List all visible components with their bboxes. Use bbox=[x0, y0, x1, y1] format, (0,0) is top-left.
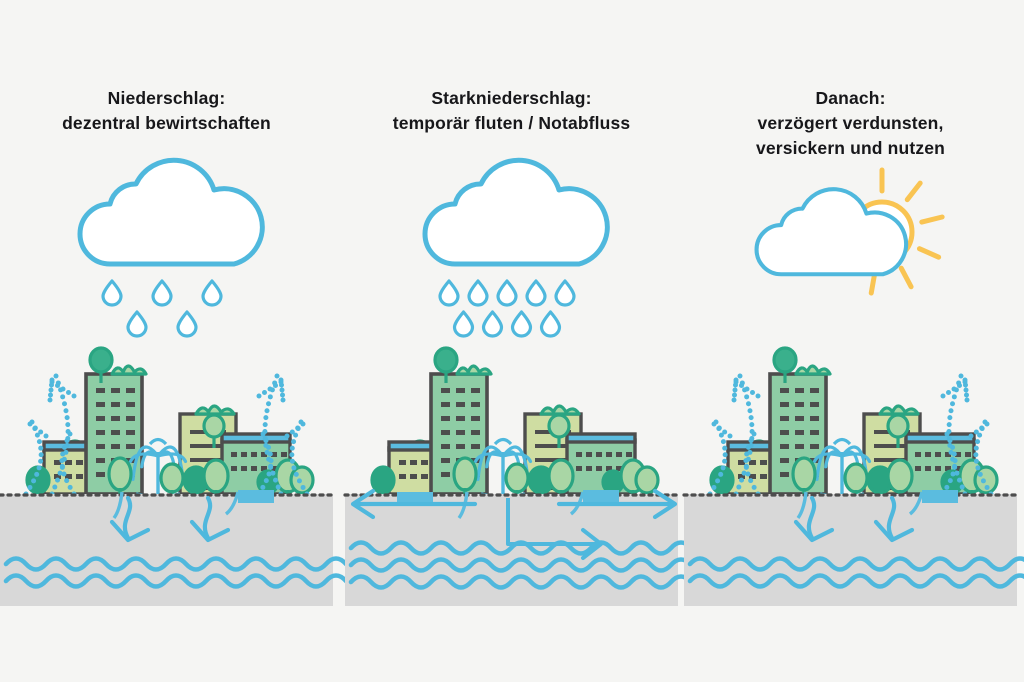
green-roof bbox=[796, 366, 830, 374]
window bbox=[780, 444, 789, 449]
panel-caption: Starkniederschlag:temporär fluten / Nota… bbox=[345, 86, 678, 136]
window bbox=[810, 416, 819, 421]
evaporation-dot bbox=[263, 422, 268, 427]
window bbox=[441, 430, 450, 435]
retention-basin bbox=[583, 490, 619, 503]
cloud-shape bbox=[80, 160, 262, 264]
caption-line: versickern und nutzen bbox=[684, 136, 1017, 161]
tree-crown bbox=[845, 464, 867, 492]
evaporation-dot bbox=[739, 383, 744, 388]
panel-heavy-precipitation: Starkniederschlag:temporär fluten / Nota… bbox=[345, 0, 678, 682]
evaporation-dot bbox=[49, 383, 54, 388]
tree-crown bbox=[204, 460, 228, 492]
raindrop-icon bbox=[440, 281, 458, 305]
city-skyline bbox=[372, 348, 658, 505]
evaporation-dot bbox=[38, 446, 43, 451]
evaporation-dot bbox=[290, 459, 295, 464]
window bbox=[780, 430, 789, 435]
evaporation-dot bbox=[985, 422, 990, 427]
window bbox=[76, 460, 83, 465]
evaporation-dot bbox=[721, 465, 726, 470]
city-ground-area bbox=[345, 352, 678, 612]
fountain-top-jet bbox=[150, 440, 166, 445]
sun-ray bbox=[907, 183, 920, 200]
evaporation-dot bbox=[44, 434, 49, 439]
window bbox=[251, 466, 257, 471]
building-blue-roof bbox=[906, 434, 974, 442]
window bbox=[111, 402, 120, 407]
evaporation-dot bbox=[952, 394, 957, 399]
evaporation-dot bbox=[746, 401, 751, 406]
window bbox=[795, 444, 804, 449]
evaporation-dot bbox=[952, 465, 957, 470]
window bbox=[925, 452, 931, 457]
evaporation-dot bbox=[273, 478, 278, 483]
evaporation-dot bbox=[27, 485, 32, 490]
evaporation-dot bbox=[746, 445, 751, 450]
evaporation-dot bbox=[959, 374, 964, 379]
evaporation-dot bbox=[68, 432, 73, 437]
evaporation-dot bbox=[712, 422, 717, 427]
window bbox=[96, 430, 105, 435]
evaporation-dot bbox=[289, 452, 294, 457]
window bbox=[616, 452, 622, 457]
tree-crown bbox=[506, 464, 528, 492]
window bbox=[111, 388, 120, 393]
evaporation-dot bbox=[68, 485, 73, 490]
evaporation-dot bbox=[964, 393, 969, 398]
evaporation-dot bbox=[273, 383, 278, 388]
panel-afterwards: Danach:verzögert verdunsten,versickern u… bbox=[684, 0, 1017, 682]
weather-area bbox=[0, 170, 333, 350]
evaporation-dot bbox=[974, 430, 979, 435]
window bbox=[795, 388, 804, 393]
retention-basin bbox=[922, 490, 958, 503]
evaporation-dot bbox=[715, 478, 720, 483]
evaporation-dot bbox=[50, 378, 55, 383]
evaporation-dot bbox=[55, 478, 60, 483]
window bbox=[471, 444, 480, 449]
evaporation-dot bbox=[953, 458, 958, 463]
tree-crown bbox=[888, 415, 908, 437]
evaporation-dot bbox=[38, 459, 43, 464]
evaporation-dot bbox=[964, 388, 969, 393]
evaporation-dot bbox=[61, 387, 66, 392]
caption-line: temporär fluten / Notabfluss bbox=[345, 111, 678, 136]
window bbox=[471, 430, 480, 435]
ground-cross-section bbox=[684, 352, 1017, 612]
window bbox=[576, 466, 582, 471]
window bbox=[596, 466, 602, 471]
window bbox=[456, 430, 465, 435]
tree-crown bbox=[435, 348, 457, 372]
window bbox=[76, 474, 83, 479]
window bbox=[795, 416, 804, 421]
evaporation-dot bbox=[750, 390, 755, 395]
evaporation-dot bbox=[723, 452, 728, 457]
infographic-stage: Niederschlag:dezentral bewirtschaftenSta… bbox=[0, 0, 1024, 682]
evaporation-dot bbox=[960, 485, 965, 490]
evaporation-dot bbox=[732, 398, 737, 403]
fountain-top-jet bbox=[495, 440, 511, 445]
caption-line: verzögert verdunsten, bbox=[684, 111, 1017, 136]
window bbox=[421, 474, 428, 479]
evaporation-dot bbox=[261, 432, 266, 437]
evaporation-dot bbox=[268, 394, 273, 399]
evaporation-dot bbox=[945, 432, 950, 437]
evaporation-dot bbox=[48, 393, 53, 398]
caption-line: Danach: bbox=[684, 86, 1017, 111]
sun-ray bbox=[922, 217, 942, 222]
raindrop-icon bbox=[178, 312, 196, 336]
window bbox=[399, 460, 406, 465]
window bbox=[586, 452, 592, 457]
window bbox=[780, 402, 789, 407]
window bbox=[441, 444, 450, 449]
window bbox=[780, 388, 789, 393]
evaporation-dot bbox=[981, 478, 986, 483]
evaporation-dot bbox=[59, 458, 64, 463]
window bbox=[126, 388, 135, 393]
ground-cross-section bbox=[345, 352, 678, 612]
window bbox=[760, 474, 767, 479]
evaporation-dot bbox=[263, 415, 268, 420]
evaporation-dot bbox=[269, 458, 274, 463]
raindrop-icon bbox=[542, 312, 560, 336]
tree-crown bbox=[454, 458, 476, 490]
window bbox=[915, 466, 921, 471]
window bbox=[456, 416, 465, 421]
evaporation-dot bbox=[64, 478, 69, 483]
evaporation-dot bbox=[744, 394, 749, 399]
evaporation-dot bbox=[294, 472, 299, 477]
green-roof bbox=[541, 406, 579, 414]
window bbox=[456, 402, 465, 407]
raindrop-icon bbox=[513, 312, 531, 336]
evaporation-dot bbox=[722, 446, 727, 451]
building-blue-roof bbox=[222, 434, 290, 442]
cloud-shape bbox=[425, 160, 607, 264]
evaporation-dot bbox=[722, 459, 727, 464]
evaporation-dot bbox=[65, 422, 70, 427]
window bbox=[760, 460, 767, 465]
panel-caption: Danach:verzögert verdunsten,versickern u… bbox=[684, 86, 1017, 161]
evaporation-dot bbox=[33, 426, 38, 431]
evaporation-dot bbox=[733, 383, 738, 388]
evaporation-dot bbox=[950, 445, 955, 450]
evaporation-dot bbox=[722, 430, 727, 435]
evaporation-dot bbox=[736, 485, 741, 490]
evaporation-dot bbox=[52, 485, 57, 490]
tree-crown bbox=[109, 458, 131, 490]
evaporation-dot bbox=[744, 452, 749, 457]
window bbox=[596, 452, 602, 457]
evaporation-dot bbox=[265, 408, 270, 413]
evaporation-dot bbox=[952, 387, 957, 392]
window bbox=[810, 388, 819, 393]
green-roof bbox=[457, 366, 491, 374]
window bbox=[780, 416, 789, 421]
evaporation-dot bbox=[62, 401, 67, 406]
tree-crown bbox=[372, 467, 394, 493]
tree-crown bbox=[90, 348, 112, 372]
evaporation-dot bbox=[721, 439, 726, 444]
evaporation-dot bbox=[974, 459, 979, 464]
window bbox=[441, 388, 450, 393]
evaporation-dot bbox=[268, 387, 273, 392]
green-roof bbox=[196, 406, 234, 414]
building-blue-roof bbox=[567, 434, 635, 442]
evaporation-dot bbox=[63, 408, 68, 413]
window bbox=[96, 416, 105, 421]
window bbox=[126, 416, 135, 421]
window bbox=[399, 474, 406, 479]
evaporation-dot bbox=[963, 383, 968, 388]
evaporation-dot bbox=[260, 485, 265, 490]
evaporation-dot bbox=[72, 394, 77, 399]
evaporation-dot bbox=[973, 452, 978, 457]
evaporation-dot bbox=[48, 398, 53, 403]
window bbox=[421, 460, 428, 465]
sun-ray bbox=[901, 268, 911, 287]
evaporation-dot bbox=[749, 422, 754, 427]
evaporation-dot bbox=[66, 390, 71, 395]
window bbox=[251, 452, 257, 457]
tree-crown bbox=[161, 464, 183, 492]
evaporation-dot bbox=[257, 394, 262, 399]
evaporation-dot bbox=[295, 426, 300, 431]
raindrop-icon bbox=[103, 281, 121, 305]
raindrop-icon bbox=[203, 281, 221, 305]
window bbox=[925, 466, 931, 471]
evaporation-dot bbox=[975, 465, 980, 470]
evaporation-dot bbox=[62, 472, 67, 477]
evaporation-dot bbox=[979, 426, 984, 431]
window bbox=[810, 444, 819, 449]
evaporation-dot bbox=[748, 478, 753, 483]
evaporation-dot bbox=[279, 378, 284, 383]
window bbox=[111, 416, 120, 421]
evaporation-dot bbox=[276, 485, 281, 490]
evaporation-dot bbox=[949, 408, 954, 413]
evaporation-dot bbox=[745, 387, 750, 392]
evaporation-dot bbox=[957, 478, 962, 483]
evaporation-dot bbox=[60, 452, 65, 457]
evaporation-dot bbox=[969, 434, 974, 439]
sun-ray bbox=[919, 249, 938, 258]
window bbox=[410, 474, 417, 479]
evaporation-dot bbox=[947, 422, 952, 427]
window bbox=[231, 466, 237, 471]
window bbox=[965, 452, 971, 457]
evaporation-dot bbox=[747, 408, 752, 413]
window bbox=[96, 388, 105, 393]
tree-crown bbox=[888, 460, 912, 492]
evaporation-dot bbox=[268, 465, 273, 470]
evaporation-dot bbox=[275, 374, 280, 379]
evaporation-dot bbox=[941, 394, 946, 399]
evaporation-dot bbox=[746, 472, 751, 477]
tree-crown bbox=[204, 415, 224, 437]
evaporation-dot bbox=[39, 452, 44, 457]
caption-line: Niederschlag: bbox=[0, 86, 333, 111]
evaporation-dot bbox=[297, 478, 302, 483]
window bbox=[810, 430, 819, 435]
city-ground-area bbox=[0, 352, 333, 612]
window bbox=[126, 402, 135, 407]
evaporation-dot bbox=[948, 478, 953, 483]
evaporation-dot bbox=[264, 478, 269, 483]
window bbox=[241, 452, 247, 457]
window bbox=[231, 452, 237, 457]
evaporation-dot bbox=[62, 445, 67, 450]
window bbox=[795, 402, 804, 407]
evaporation-dot bbox=[718, 472, 723, 477]
green-roof bbox=[112, 366, 146, 374]
city-skyline bbox=[711, 348, 997, 505]
evaporation-dot bbox=[279, 383, 284, 388]
evaporation-dot bbox=[950, 401, 955, 406]
evaporation-dot bbox=[54, 374, 59, 379]
evaporation-dot bbox=[978, 472, 983, 477]
window bbox=[915, 452, 921, 457]
evaporation-dot bbox=[734, 378, 739, 383]
evaporation-dot bbox=[65, 438, 70, 443]
evaporation-dot bbox=[944, 485, 949, 490]
city-skyline bbox=[27, 348, 313, 505]
window bbox=[935, 466, 941, 471]
evaporation-dot bbox=[732, 393, 737, 398]
evaporation-dot bbox=[285, 434, 290, 439]
window bbox=[471, 402, 480, 407]
window bbox=[126, 430, 135, 435]
window bbox=[441, 458, 450, 463]
tree-crown bbox=[793, 458, 815, 490]
window bbox=[935, 452, 941, 457]
raindrop-icon bbox=[556, 281, 574, 305]
raindrop-icon bbox=[484, 312, 502, 336]
evaporation-dot bbox=[60, 394, 65, 399]
evaporation-dot bbox=[739, 478, 744, 483]
evaporation-dot bbox=[290, 430, 295, 435]
evaporation-dot bbox=[266, 445, 271, 450]
evaporation-dot bbox=[263, 438, 268, 443]
evaporation-dot bbox=[49, 388, 54, 393]
window bbox=[780, 472, 789, 477]
raindrop-icon bbox=[455, 312, 473, 336]
window bbox=[96, 472, 105, 477]
evaporation-dot bbox=[34, 472, 39, 477]
window bbox=[410, 460, 417, 465]
raindrop-icon bbox=[498, 281, 516, 305]
evaporation-dot bbox=[950, 472, 955, 477]
raindrop-icon bbox=[128, 312, 146, 336]
caption-line: dezentral bewirtschaften bbox=[0, 111, 333, 136]
window bbox=[126, 444, 135, 449]
window bbox=[780, 458, 789, 463]
evaporation-dot bbox=[952, 452, 957, 457]
window bbox=[441, 472, 450, 477]
raindrop-icon bbox=[469, 281, 487, 305]
evaporation-dot bbox=[963, 378, 968, 383]
window bbox=[626, 452, 632, 457]
tree-crown bbox=[549, 460, 573, 492]
evaporation-dot bbox=[733, 388, 738, 393]
evaporation-dot bbox=[752, 485, 757, 490]
evaporation-dot bbox=[55, 383, 60, 388]
evaporation-dot bbox=[280, 393, 285, 398]
soil-block bbox=[0, 494, 333, 606]
evaporation-dot bbox=[985, 485, 990, 490]
evaporation-dot bbox=[957, 383, 962, 388]
retention-basin bbox=[238, 490, 274, 503]
window bbox=[111, 444, 120, 449]
window bbox=[441, 416, 450, 421]
window bbox=[471, 416, 480, 421]
window bbox=[281, 452, 287, 457]
window bbox=[586, 466, 592, 471]
evaporation-dot bbox=[37, 465, 42, 470]
window bbox=[456, 388, 465, 393]
evaporation-dot bbox=[37, 439, 42, 444]
evaporation-dot bbox=[281, 398, 286, 403]
window bbox=[795, 430, 804, 435]
raindrop-icon bbox=[153, 281, 171, 305]
tree-crown bbox=[549, 415, 569, 437]
evaporation-dot bbox=[946, 390, 951, 395]
evaporation-dot bbox=[717, 426, 722, 431]
evaporation-dot bbox=[738, 374, 743, 379]
evaporation-dot bbox=[965, 398, 970, 403]
sun-behind-cloud-icon bbox=[684, 170, 1017, 350]
evaporation-dot bbox=[743, 458, 748, 463]
evaporation-dot bbox=[749, 438, 754, 443]
weather-area bbox=[684, 170, 1017, 350]
evaporation-dot bbox=[262, 390, 267, 395]
window bbox=[241, 466, 247, 471]
evaporation-dot bbox=[975, 439, 980, 444]
window bbox=[471, 388, 480, 393]
tree-crown bbox=[774, 348, 796, 372]
window bbox=[441, 402, 450, 407]
evaporation-dot bbox=[291, 465, 296, 470]
evaporation-dot bbox=[947, 415, 952, 420]
window bbox=[96, 458, 105, 463]
ground-cross-section bbox=[0, 352, 333, 612]
window bbox=[96, 444, 105, 449]
evaporation-dot bbox=[749, 415, 754, 420]
window bbox=[456, 444, 465, 449]
evaporation-dot bbox=[744, 465, 749, 470]
green-roof bbox=[880, 406, 918, 414]
evaporation-dot bbox=[711, 485, 716, 490]
cloud-rain-icon bbox=[0, 170, 333, 350]
window bbox=[96, 402, 105, 407]
cloud-heavy-rain-icon bbox=[345, 170, 678, 350]
evaporation-dot bbox=[947, 438, 952, 443]
evaporation-dot bbox=[60, 465, 65, 470]
window bbox=[810, 402, 819, 407]
evaporation-dot bbox=[756, 394, 761, 399]
panel-precipitation: Niederschlag:dezentral bewirtschaften bbox=[0, 0, 333, 682]
evaporation-dot bbox=[974, 446, 979, 451]
evaporation-dot bbox=[31, 478, 36, 483]
evaporation-dot bbox=[728, 434, 733, 439]
window bbox=[576, 452, 582, 457]
window bbox=[606, 452, 612, 457]
evaporation-dot bbox=[280, 388, 285, 393]
evaporation-dot bbox=[301, 485, 306, 490]
